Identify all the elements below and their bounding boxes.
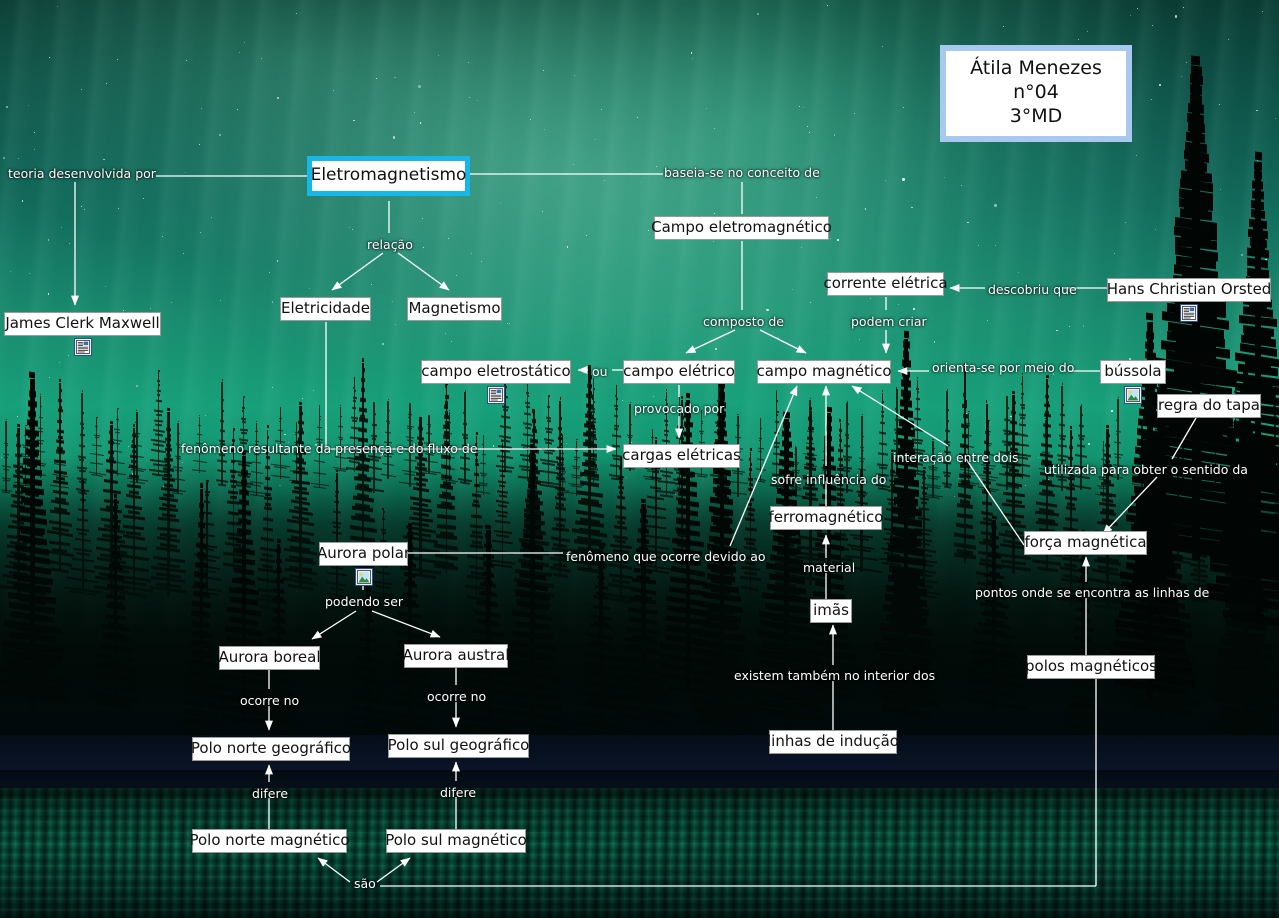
link-label-l-fenomeno-res: fenômeno resultante da presença e do flu…: [181, 443, 478, 456]
concept-node-maxwell[interactable]: James Clerk Maxwell: [4, 312, 161, 336]
link-label-l-relacao: relação: [367, 239, 413, 252]
concept-node-imas[interactable]: imãs: [810, 599, 852, 623]
link-label-l-difere-1: difere: [252, 788, 288, 801]
concept-node-eletricidade[interactable]: Eletricidade: [280, 297, 371, 321]
link-label-l-teoria: teoria desenvolvida por: [8, 168, 156, 181]
link-label-l-fenomeno-oc: fenômeno que ocorre devido ao: [566, 551, 766, 564]
link-label-l-utilizada: utilizada para obter o sentido da: [1044, 464, 1248, 477]
link-label-l-ocorre-2: ocorre no: [427, 691, 486, 704]
concept-node-magnetismo[interactable]: Magnetismo: [407, 297, 502, 321]
document-icon[interactable]: [1180, 304, 1198, 322]
concept-node-corrente-eletrica[interactable]: corrente elétrica: [827, 272, 944, 296]
link-label-l-difere-2: difere: [440, 787, 476, 800]
concept-node-linhas-inducao[interactable]: linhas de indução: [769, 730, 897, 754]
concept-node-ferromagnetico[interactable]: ferromagnético: [770, 506, 882, 530]
concept-node-campo-eletrico[interactable]: campo elétrico: [623, 360, 735, 384]
concept-node-aurora-polar[interactable]: Aurora polar: [319, 542, 408, 566]
link-label-l-sao: são: [354, 878, 376, 891]
link-label-l-orienta: orienta-se por meio do: [932, 362, 1074, 375]
concept-node-polo-norte-mag[interactable]: Polo norte magnético: [192, 829, 347, 853]
concept-node-orsted[interactable]: Hans Christian Orsted: [1107, 278, 1271, 302]
concept-node-polo-norte-geo[interactable]: Polo norte geográfico: [192, 737, 350, 761]
image-icon[interactable]: [355, 568, 373, 586]
concept-node-aurora-austral[interactable]: Aurora austral: [404, 644, 508, 668]
image-icon[interactable]: [1124, 386, 1142, 404]
link-label-l-ocorre-1: ocorre no: [240, 695, 299, 708]
concept-node-polo-sul-geo[interactable]: Polo sul geográfico: [388, 734, 529, 758]
link-label-l-podem-criar: podem criar: [851, 316, 927, 329]
link-label-l-descobriu: descobriu que: [988, 284, 1077, 297]
link-label-l-pontos: pontos onde se encontra as linhas de: [975, 587, 1209, 600]
link-label-l-sofre: sofre influência do: [771, 474, 886, 487]
link-label-l-interacao: interação entre dois: [893, 452, 1019, 465]
concept-node-eletromagnetismo[interactable]: Eletromagnetismo: [307, 156, 470, 196]
concept-node-campo-eletrostatico[interactable]: campo eletrostático: [421, 360, 571, 384]
document-icon[interactable]: [487, 386, 505, 404]
concept-node-campo-eletromag[interactable]: Campo eletromagnético: [654, 216, 829, 240]
document-icon[interactable]: [74, 338, 92, 356]
concept-node-campo-magnetico[interactable]: campo magnético: [757, 360, 891, 384]
link-label-l-podendo: podendo ser: [325, 596, 403, 609]
link-label-l-baseia: baseia-se no conceito de: [664, 167, 820, 180]
concept-node-cargas-eletricas[interactable]: cargas elétricas: [623, 444, 740, 468]
concept-node-bussola[interactable]: bússola: [1100, 360, 1166, 384]
concept-node-regra-do-tapa[interactable]: regra do tapa: [1157, 394, 1261, 418]
concept-node-forca-magnetica[interactable]: força magnética: [1024, 531, 1147, 555]
student-title-box: Átila Menezes n°04 3°MD: [940, 45, 1132, 142]
link-label-l-material: material: [803, 562, 855, 575]
concept-node-polos-magneticos[interactable]: polos magnéticos: [1027, 655, 1155, 679]
link-label-l-provocado: provocado por: [634, 403, 724, 416]
link-label-l-composto: composto de: [703, 316, 784, 329]
link-label-l-existem: existem também no interior dos: [734, 670, 935, 683]
concept-node-aurora-boreal[interactable]: Aurora boreal: [219, 646, 320, 670]
concept-node-polo-sul-magnetico[interactable]: Polo sul magnético: [386, 829, 526, 853]
link-label-l-ou: ou: [592, 366, 608, 379]
concept-map-canvas: EletromagnetismoJames Clerk MaxwellEletr…: [0, 0, 1279, 918]
